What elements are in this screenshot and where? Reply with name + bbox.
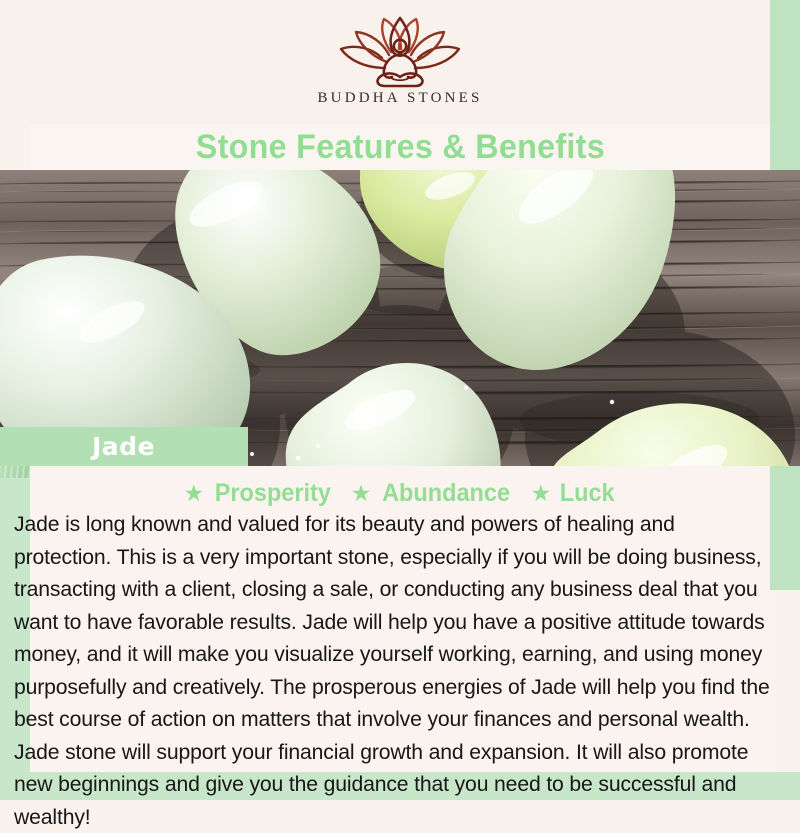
star-icon: ★ [351,482,372,505]
stone-name-banner: Jade [0,427,248,466]
benefit-label: Luck [560,479,615,508]
star-icon: ★ [531,482,552,505]
brand-header: BUDDHA STONES [30,0,770,124]
title-banner: Stone Features & Benefits [30,124,770,170]
page-title: Stone Features & Benefits [195,128,604,167]
benefit-label: Abundance [382,479,510,508]
star-icon: ★ [183,482,204,505]
description-text: Jade is long known and valued for its be… [14,508,777,833]
benefits-row: ★ Prosperity ★ Abundance ★ Luck [0,478,800,508]
benefit-label: Prosperity [215,479,331,508]
benefit-item-luck: ★ Luck [531,479,617,508]
benefit-item-abundance: ★ Abundance [351,479,515,508]
lotus-meditation-icon [325,16,475,88]
stone-name-label: Jade [92,432,155,461]
benefit-item-prosperity: ★ Prosperity [183,479,334,508]
stone-photo [0,170,800,466]
brand-name: BUDDHA STONES [317,90,482,107]
